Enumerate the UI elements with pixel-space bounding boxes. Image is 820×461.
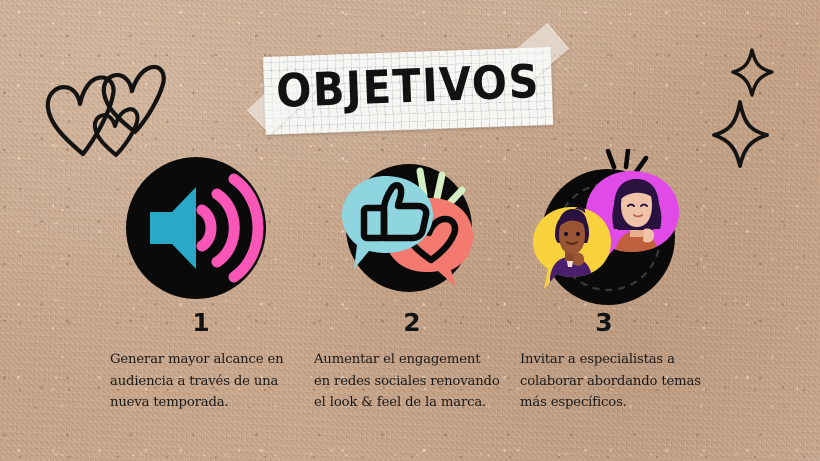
- objective-1-icon-wrap: [100, 152, 310, 304]
- thumbs-up-heart-chat-bubbles-icon: [338, 157, 480, 299]
- title-block: OBJETIVOS: [258, 42, 558, 138]
- objective-2-icon-wrap: [308, 152, 518, 304]
- objective-3-text: Invitar a especialistas a colaborar abor…: [516, 349, 702, 414]
- page-title-text: OBJETIVOS: [275, 45, 541, 127]
- objective-2-number: 2: [308, 310, 518, 336]
- hearts-doodle-icon: [38, 50, 166, 163]
- page-title: OBJETIVOS: [257, 44, 560, 127]
- speaker-sound-waves-icon: [122, 154, 270, 302]
- objective-item-2: 2 Aumentar el engagement en redes social…: [308, 152, 518, 414]
- slide-canvas: OBJETIVOS 1 Generar mayor alcance en aud…: [0, 0, 820, 461]
- objective-3-number: 3: [516, 310, 726, 336]
- objective-item-1: 1 Generar mayor alcance en audiencia a t…: [100, 152, 310, 414]
- objective-item-3: 3 Invitar a especialistas a colaborar ab…: [516, 152, 726, 414]
- objective-2-text: Aumentar el engagement en redes sociales…: [308, 349, 500, 414]
- objective-1-number: 1: [100, 310, 310, 336]
- objective-1-text: Generar mayor alcance en audiencia a tra…: [100, 349, 292, 414]
- objective-3-icon-wrap: [516, 152, 726, 304]
- two-people-chat-avatars-icon: [522, 149, 690, 307]
